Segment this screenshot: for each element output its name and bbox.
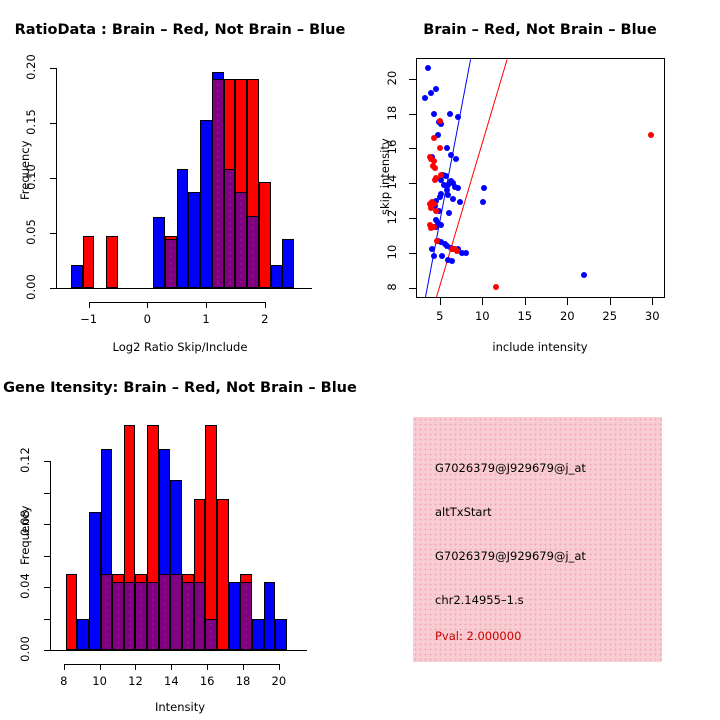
y-tick-label: 18 (385, 99, 399, 127)
x-tick-label: −1 (69, 312, 109, 326)
histogram-bar-overlap (101, 574, 113, 650)
histogram-bar-overlap (182, 582, 194, 650)
y-tick-label: 12 (385, 203, 399, 231)
info-line-pval: Pval: 2.000000 (435, 629, 521, 643)
y-tick-label: 0.08 (18, 508, 32, 538)
scatter-point-brain (432, 177, 438, 183)
histogram-bar-overlap (159, 574, 171, 650)
histogram-bar-overlap (124, 582, 136, 650)
scatter-point-brain (493, 284, 499, 290)
y-tick-label: 8 (385, 273, 399, 301)
histogram-bar (271, 265, 283, 288)
histogram-bar (77, 619, 89, 650)
histogram-bar (259, 182, 271, 288)
scatter-point-brain (434, 238, 440, 244)
y-tick (409, 288, 416, 289)
y-tick-label: 14 (385, 168, 399, 196)
histogram-bar-overlap (205, 619, 217, 650)
x-tick (207, 664, 208, 670)
x-tick-label: 20 (259, 674, 299, 688)
x-tick-label: 2 (245, 312, 285, 326)
y-tick (44, 587, 50, 588)
scatter-point-brain (454, 248, 460, 254)
x-tick-label: 10 (80, 674, 120, 688)
x-tick (100, 664, 101, 670)
y-tick-label: 0.00 (18, 634, 32, 664)
y-tick (409, 218, 416, 219)
scatter-point-brain (438, 172, 444, 178)
x-tick-label: 30 (632, 309, 672, 323)
histogram-bar (89, 512, 101, 650)
histogram-bar (177, 169, 189, 288)
x-tick-label: 0 (127, 312, 167, 326)
scatter-point-brain (431, 135, 437, 141)
histogram-bar (217, 499, 229, 650)
histogram-bar (205, 425, 217, 650)
y-tick (409, 183, 416, 184)
probe-info-panel: G7026379@J929679@j_at altTxStart G702637… (413, 417, 662, 662)
scatter-point-not-brain (453, 156, 459, 162)
y-tick (44, 524, 50, 525)
x-tick (171, 664, 172, 670)
histogram-bar-overlap (135, 582, 147, 650)
figure-canvas: RatioData : Brain – Red, Not Brain – Blu… (0, 0, 720, 720)
y-tick (50, 123, 56, 124)
histogram-bar (275, 619, 287, 650)
info-line-probe-id-2: G7026379@J929679@j_at (435, 549, 586, 563)
histogram-bar (188, 192, 200, 288)
scatter-point-not-brain (447, 111, 453, 117)
x-tick (525, 298, 526, 305)
scatter-point-not-brain (431, 111, 437, 117)
scatter-plot-area: 810121416182051015202530 (360, 0, 720, 360)
y-tick-label: 0.04 (18, 571, 32, 601)
x-tick-label: 8 (44, 674, 84, 688)
histogram-bar (106, 236, 118, 288)
panel-ratio-histogram: RatioData : Brain – Red, Not Brain – Blu… (0, 0, 360, 360)
x-tick (279, 664, 280, 670)
x-tick (567, 298, 568, 305)
x-tick-label: 20 (547, 309, 587, 323)
histogram-bar-overlap (165, 239, 177, 288)
histogram-bar (252, 619, 264, 650)
y-tick-label: 0.00 (24, 272, 38, 302)
x-tick (243, 664, 244, 670)
histogram-bar-overlap (147, 582, 159, 650)
y-tick (409, 253, 416, 254)
scatter-point-not-brain (463, 250, 469, 256)
y-tick (409, 148, 416, 149)
y-tick (50, 233, 56, 234)
plot-baseline (50, 650, 307, 651)
x-tick (482, 298, 483, 305)
x-tick-label: 16 (187, 674, 227, 688)
histogram-bar (200, 120, 212, 288)
x-tick-label: 15 (505, 309, 545, 323)
x-tick (89, 302, 90, 308)
x-tick-label: 5 (420, 309, 460, 323)
ratio-histogram-plot-area: 0.000.050.100.150.20−1012 (0, 0, 360, 360)
histogram-bar-overlap (212, 79, 224, 288)
histogram-bar (282, 239, 294, 288)
x-tick (147, 302, 148, 308)
x-tick (440, 298, 441, 305)
scatter-point-not-brain (446, 210, 452, 216)
histogram-bar (66, 574, 78, 650)
info-line-probe-id: G7026379@J929679@j_at (435, 461, 586, 475)
x-tick-label: 12 (115, 674, 155, 688)
x-tick-label: 1 (186, 312, 226, 326)
histogram-bar-overlap (112, 582, 124, 650)
info-line-coordinate: chr2.14955–1.s (435, 593, 524, 607)
x-tick-label: 18 (223, 674, 263, 688)
y-tick-label: 0.15 (24, 107, 38, 137)
y-tick (409, 79, 416, 80)
y-tick-minor (44, 556, 50, 557)
x-axis-line (89, 302, 266, 303)
y-axis-line (50, 461, 51, 651)
histogram-bar-overlap (224, 169, 236, 288)
scatter-point-not-brain (455, 114, 461, 120)
y-tick-minor (44, 493, 50, 494)
x-tick (64, 664, 65, 670)
x-tick (135, 664, 136, 670)
histogram-bar-overlap (170, 574, 182, 650)
y-tick-label: 0.05 (24, 217, 38, 247)
panel-scatter: Brain – Red, Not Brain – Blue skip inten… (360, 0, 720, 360)
y-tick-label: 0.20 (24, 52, 38, 82)
info-line-event-type: altTxStart (435, 505, 492, 519)
x-tick-label: 10 (462, 309, 502, 323)
scatter-point-not-brain (438, 222, 444, 228)
histogram-bar (153, 217, 165, 288)
y-tick-minor (44, 619, 50, 620)
histogram-bar (83, 236, 95, 288)
y-tick-label: 16 (385, 133, 399, 161)
y-axis-line (56, 68, 57, 289)
x-tick-label: 14 (151, 674, 191, 688)
scatter-point-brain (432, 165, 438, 171)
x-tick-label: 25 (590, 309, 630, 323)
y-tick-label: 20 (385, 64, 399, 92)
histogram-bar-overlap (247, 216, 259, 288)
x-tick (206, 302, 207, 308)
histogram-bar-overlap (240, 582, 252, 650)
histogram-bar (229, 582, 241, 650)
x-tick (652, 298, 653, 305)
y-tick (50, 68, 56, 69)
y-tick-label: 10 (385, 238, 399, 266)
scatter-point-brain (437, 118, 443, 124)
plot-baseline (56, 288, 312, 289)
histogram-bar (71, 265, 83, 288)
histogram-bar-overlap (235, 192, 247, 288)
y-tick-label: 0.12 (18, 445, 32, 475)
y-tick-label: 0.10 (24, 162, 38, 192)
y-tick (44, 461, 50, 462)
x-tick (610, 298, 611, 305)
y-tick (50, 178, 56, 179)
x-tick (265, 302, 266, 308)
y-tick (409, 114, 416, 115)
gene-histogram-plot-area: 0.000.040.080.128101214161820 (0, 360, 360, 720)
histogram-bar (264, 582, 276, 650)
panel-gene-histogram: Gene Itensity: Brain – Red, Not Brain – … (0, 360, 360, 720)
histogram-bar-overlap (194, 582, 206, 650)
